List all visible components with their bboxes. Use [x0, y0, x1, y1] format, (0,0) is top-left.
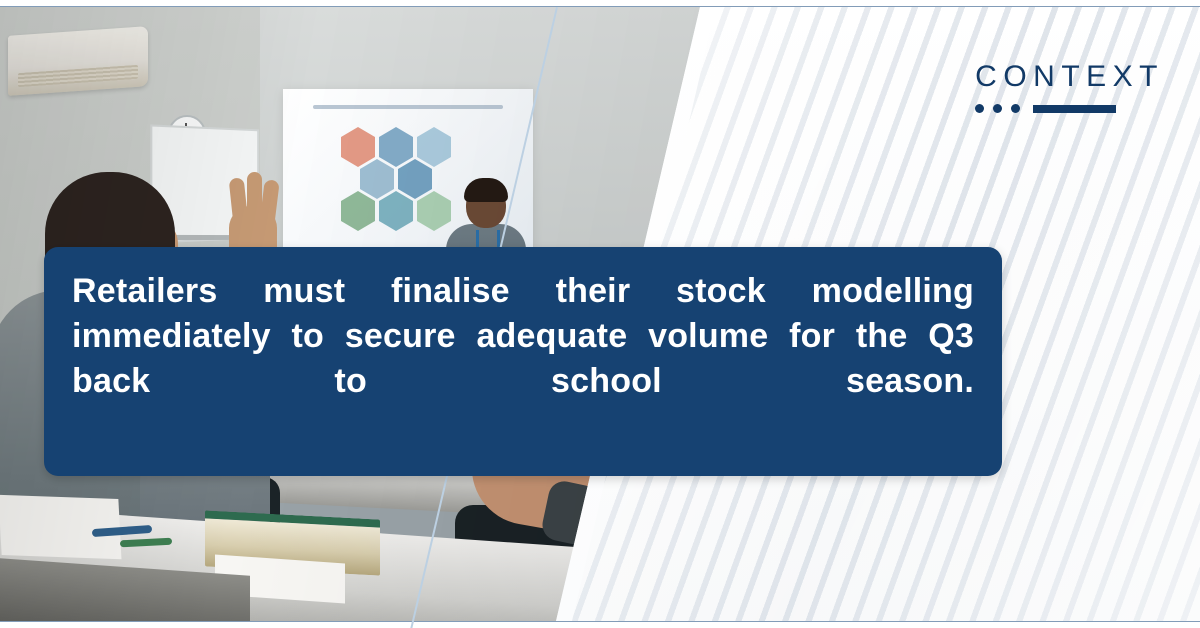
bottom-border-rule — [0, 621, 1200, 622]
logo-dot-icon — [993, 104, 1002, 113]
brand-underline-group — [975, 104, 1164, 113]
logo-bar-icon — [1033, 105, 1116, 113]
promo-banner: CONTEXT Retailers must finalise their st… — [0, 0, 1200, 628]
logo-dot-icon — [1011, 104, 1020, 113]
brand-logo: CONTEXT — [975, 62, 1164, 113]
headline-text: Retailers must finalise their stock mode… — [72, 269, 974, 450]
logo-dot-icon — [975, 104, 984, 113]
headline-callout: Retailers must finalise their stock mode… — [44, 247, 1002, 476]
brand-wordmark: CONTEXT — [975, 62, 1164, 92]
